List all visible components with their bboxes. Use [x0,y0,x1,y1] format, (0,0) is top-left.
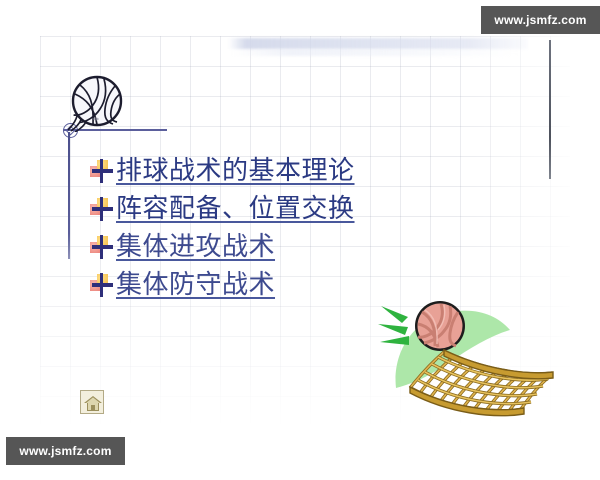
list-item[interactable]: 阵容配备、位置交换 [88,190,488,228]
slide-canvas: 排球战术的基本理论 阵容配备、位置交换 集体进攻战术 集体防守战术 [0,0,600,480]
watermark-top-right: www.jsmfz.com [481,6,600,34]
vertical-rule-left [68,132,70,259]
vertical-rule-right [549,40,551,179]
title-band-secondary [232,49,518,56]
list-item-label: 阵容配备、位置交换 [116,196,355,222]
bullet-cross-icon [88,158,114,184]
list-item-label: 集体防守战术 [116,272,275,298]
home-icon [83,393,103,413]
volleyball-net-graphic [378,292,570,420]
title-band [228,38,528,49]
list-item-label: 排球战术的基本理论 [116,158,355,184]
list-item-label: 集体进攻战术 [116,234,275,260]
list-item[interactable]: 集体进攻战术 [88,228,488,266]
list-item[interactable]: 排球战术的基本理论 [88,152,488,190]
home-button[interactable] [80,390,104,414]
bullet-cross-icon [88,272,114,298]
bullet-cross-icon [88,196,114,222]
bullet-list: 排球战术的基本理论 阵容配备、位置交换 集体进攻战术 集体防守战术 [88,152,488,304]
bullet-cross-icon [88,234,114,260]
watermark-bottom-left: www.jsmfz.com [6,437,125,465]
volleyball-icon [66,74,124,132]
